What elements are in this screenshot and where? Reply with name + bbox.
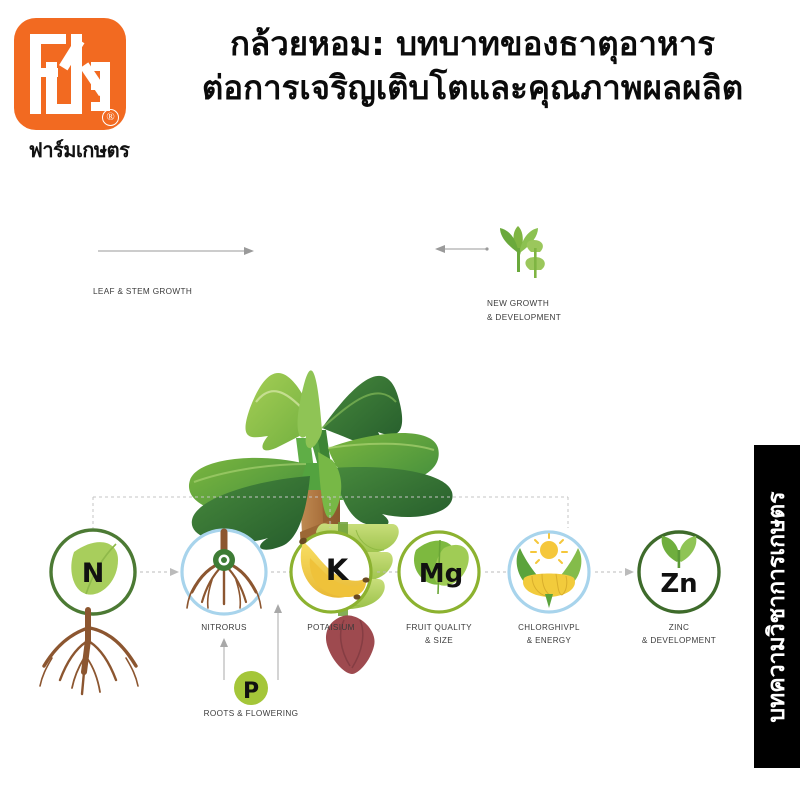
arrow-up-icon [220,638,228,647]
arrow-up-icon [274,604,282,613]
nutrient-node-potassium[interactable]: K POTAISIUM [291,532,371,632]
brand-caption: ฟาร์มเกษตร [14,134,144,166]
nutrient-label-nitrorus: NITRORUS [201,623,247,632]
callout-label-leaf-stem: LEAF & STEM GROWTH [93,287,192,296]
nutrient-symbol-mg: Mg [419,559,463,589]
banana-tip [363,577,370,582]
nutrient-label-chlorophyll-1: CHLORGHIVPL [518,623,580,632]
nutrient-node-magnesium[interactable]: Mg FRUIT QUALITY & SIZE [399,532,479,645]
nutrient-symbol-zn: Zn [660,569,697,599]
nutrient-label-zinc-2: & DEVELOPMENT [642,636,716,645]
callout-leaf-stem-growth: LEAF & STEM GROWTH [93,247,254,296]
callout-label-new-growth-1: NEW GROWTH [487,299,549,308]
arrow-left-icon [435,245,445,253]
arrow-right-icon [170,568,179,576]
nutrient-label-mg-1: FRUIT QUALITY [406,623,472,632]
nutrient-label-chlorophyll-2: & ENERGY [527,636,572,645]
nutrient-label-potassium: POTAISIUM [307,623,355,632]
fkkf-logo-icon: ® [14,18,126,130]
nutrient-label-zinc-1: ZINC [669,623,690,632]
callout-dot [485,247,488,250]
nutrient-infographic: LEAF & STEM GROWTH NEW GROWTH & DEVELOPM… [0,180,800,800]
banana-tip-2 [354,594,361,599]
leaf-upper-center [298,370,322,448]
sprout-stem [678,550,681,568]
connector-1 [140,568,179,576]
side-banner: บทความวิชาการเกษตร [754,445,800,768]
phosphorus-label: ROOTS & FLOWERING [204,709,299,718]
arrow-right-icon [244,247,254,255]
nutrient-symbol-p: P [243,679,259,704]
callout-new-growth: NEW GROWTH & DEVELOPMENT [435,226,561,322]
callout-label-new-growth-2: & DEVELOPMENT [487,313,561,322]
page-title-line-1: กล้วยหอม: บทบาทของธาตุอาหาร [150,22,795,66]
sprout-cluster-stem [534,248,537,278]
nutrient-node-nitrogen[interactable]: N [40,530,138,694]
arrow-right-icon [625,568,634,576]
phosphorus-arrows [224,609,278,680]
nutrient-symbol-n: N [82,558,105,589]
registered-trademark-icon: ® [102,109,119,126]
connector-5 [595,568,634,576]
nutrient-label-mg-2: & SIZE [425,636,453,645]
nutrient-node-chlorophyll[interactable]: CHLORGHIVPL & ENERGY [509,532,589,645]
sprout-seedling-icon [500,226,545,278]
page-header: ® ฟาร์มเกษตร กล้วยหอม: บทบาทของธาตุอาหาร… [0,0,800,180]
root-system-icon [40,610,138,694]
side-banner-text: บทความวิชาการเกษตร [759,491,795,722]
nutrient-node-nitrorus[interactable]: NITRORUS [182,530,266,632]
page-title: กล้วยหอม: บทบาทของธาตุอาหาร ต่อการเจริญเ… [150,22,795,110]
nutrient-node-zinc[interactable]: Zn ZINC & DEVELOPMENT [639,532,719,645]
sun-icon [540,541,558,559]
page-title-line-2: ต่อการเจริญเติบโตและคุณภาพผลผลิต [150,66,795,110]
seed-core [221,557,227,563]
brand-logo-block: ® ฟาร์มเกษตร [14,18,144,166]
nutrient-symbol-k: K [326,553,350,587]
sprout-stem [517,248,520,272]
nutrient-node-phosphorus[interactable]: P ROOTS & FLOWERING [204,604,299,718]
